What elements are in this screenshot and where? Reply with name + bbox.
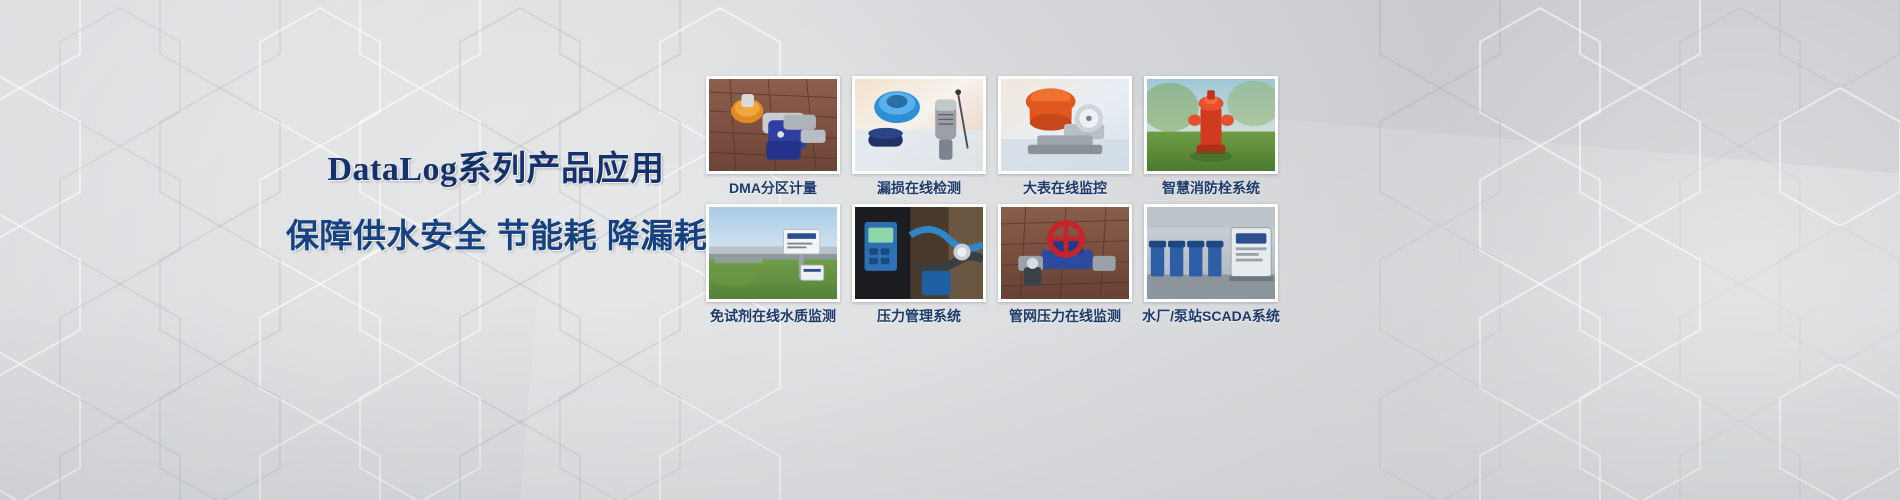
product-card-pipe-network-pressure-monitoring[interactable]: 管网压力在线监测 bbox=[998, 204, 1132, 320]
headline-primary: DataLog系列产品应用 bbox=[286, 148, 706, 192]
product-card-large-meter-monitoring[interactable]: 大表在线监控 bbox=[998, 76, 1132, 192]
product-grid-row-2: 免试剂在线水质监测 bbox=[706, 204, 1278, 320]
product-thumbnail-frame[interactable] bbox=[1144, 76, 1278, 174]
product-thumbnail-frame[interactable] bbox=[852, 76, 986, 174]
reagent-free-water-quality-monitoring-photo bbox=[709, 207, 837, 299]
dma-zone-metering-photo bbox=[709, 79, 837, 171]
product-caption: 智慧消防栓系统 bbox=[1162, 179, 1260, 197]
product-card-scada-system[interactable]: 水厂/泵站SCADA系统 bbox=[1144, 204, 1278, 320]
leakage-online-detection-photo bbox=[855, 79, 983, 171]
product-caption: 漏损在线检测 bbox=[877, 179, 961, 197]
product-thumbnail-frame[interactable] bbox=[1144, 204, 1278, 302]
caption-container: 管网压力在线监测 bbox=[998, 302, 1132, 320]
product-caption: 管网压力在线监测 bbox=[1009, 307, 1121, 325]
caption-container: 智慧消防栓系统 bbox=[1144, 174, 1278, 192]
product-thumbnail-frame[interactable] bbox=[852, 204, 986, 302]
caption-container: DMA分区计量 bbox=[706, 174, 840, 192]
headline-secondary: 保障供水安全 节能耗 降漏耗 bbox=[286, 214, 706, 258]
large-meter-online-monitoring-photo bbox=[1001, 79, 1129, 171]
light-glow-right bbox=[1360, 0, 1900, 500]
product-caption: 压力管理系统 bbox=[877, 307, 961, 325]
product-card-leakage-online-detection[interactable]: 漏损在线检测 bbox=[852, 76, 986, 192]
product-application-banner: DataLog系列产品应用 保障供水安全 节能耗 降漏耗 bbox=[0, 0, 1900, 500]
caption-container: 大表在线监控 bbox=[998, 174, 1132, 192]
caption-container: 漏损在线检测 bbox=[852, 174, 986, 192]
waterworks-pumpstation-scada-photo bbox=[1147, 207, 1275, 299]
product-thumbnail-frame[interactable] bbox=[998, 76, 1132, 174]
product-caption: 大表在线监控 bbox=[1023, 179, 1107, 197]
caption-container: 压力管理系统 bbox=[852, 302, 986, 320]
product-grid-row-1: DMA分区计量 bbox=[706, 76, 1278, 192]
product-caption: 水厂/泵站SCADA系统 bbox=[1142, 307, 1280, 325]
product-card-water-quality-monitoring[interactable]: 免试剂在线水质监测 bbox=[706, 204, 840, 320]
product-card-smart-fire-hydrant[interactable]: 智慧消防栓系统 bbox=[1144, 76, 1278, 192]
caption-container: 免试剂在线水质监测 bbox=[706, 302, 840, 320]
product-caption: 免试剂在线水质监测 bbox=[710, 307, 836, 325]
bottom-shade bbox=[0, 300, 1900, 500]
smart-fire-hydrant-system-photo bbox=[1147, 79, 1275, 171]
pipe-network-pressure-monitoring-photo bbox=[1001, 207, 1129, 299]
product-card-dma-zone-metering[interactable]: DMA分区计量 bbox=[706, 76, 840, 192]
product-application-grid: DMA分区计量 bbox=[706, 76, 1278, 320]
caption-container: 水厂/泵站SCADA系统 bbox=[1144, 302, 1278, 320]
product-thumbnail-frame[interactable] bbox=[706, 204, 840, 302]
product-caption: DMA分区计量 bbox=[729, 179, 817, 197]
product-thumbnail-frame[interactable] bbox=[998, 204, 1132, 302]
product-card-pressure-management-system[interactable]: 压力管理系统 bbox=[852, 204, 986, 320]
pressure-management-system-photo bbox=[855, 207, 983, 299]
product-thumbnail-frame[interactable] bbox=[706, 76, 840, 174]
banner-headline: DataLog系列产品应用 保障供水安全 节能耗 降漏耗 bbox=[286, 148, 706, 258]
